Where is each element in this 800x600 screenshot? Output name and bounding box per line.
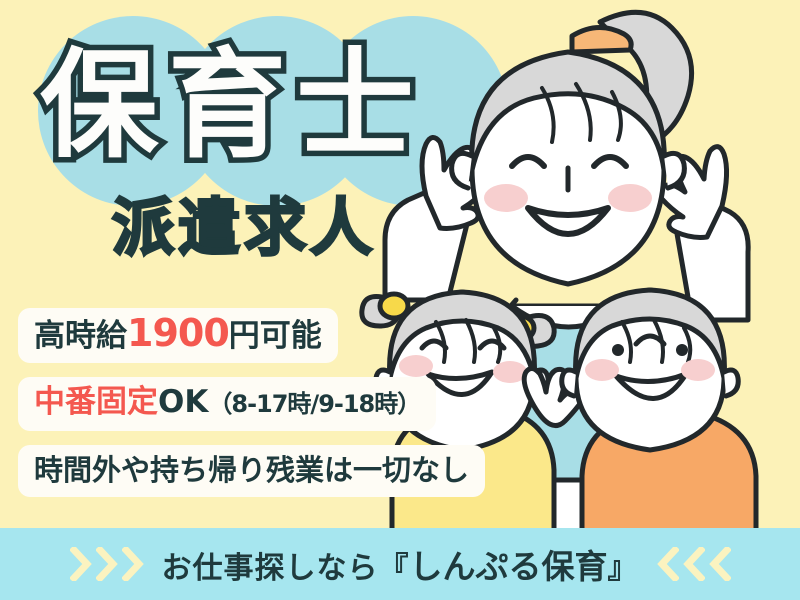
chevron-left-icon [683, 547, 705, 581]
shift-ok-label: OK [158, 384, 208, 420]
ribbon-lead-text: お仕事探しなら『 [162, 551, 410, 586]
feature-fixed-shift-text: 中番固定OK（8-17時/9-18時） [34, 382, 420, 424]
feature-no-overtime: 時間外や持ち帰り残業は一切なし [18, 445, 485, 497]
chevron-left-icon [709, 547, 731, 581]
bottom-ribbon: お仕事探しなら『しんぷる保育』 [0, 528, 800, 600]
feature-hourly-wage-text: 高時給1900円可能 [34, 313, 322, 356]
job-ad-banner: 保育士 派遣求人 高時給1900円可能 中番固定OK（8-17時/9-18時） … [0, 0, 800, 600]
feature-fixed-shift: 中番固定OK（8-17時/9-18時） [18, 377, 436, 431]
chevron-right-icon [70, 547, 92, 581]
wage-amount: 1900 [127, 311, 229, 355]
ribbon-trail-text: 』 [608, 551, 639, 586]
wage-prefix: 高時給 [34, 318, 127, 354]
left-chevron-group [70, 547, 144, 581]
chevron-left-icon [657, 547, 679, 581]
chevron-right-icon [96, 547, 118, 581]
chevron-right-icon [122, 547, 144, 581]
right-chevron-group [657, 547, 731, 581]
ribbon-tagline: お仕事探しなら『しんぷる保育』 [162, 540, 639, 588]
feature-list: 高時給1900円可能 中番固定OK（8-17時/9-18時） 時間外や持ち帰り残… [18, 308, 485, 497]
wage-suffix: 円可能 [229, 318, 322, 354]
shift-highlight: 中番固定 [34, 384, 158, 420]
feature-no-overtime-text: 時間外や持ち帰り残業は一切なし [34, 450, 469, 490]
shift-hours-note: （8-17時/9-18時） [208, 390, 420, 418]
brand-name: しんぷる保育 [410, 547, 608, 586]
feature-hourly-wage: 高時給1900円可能 [18, 308, 338, 363]
